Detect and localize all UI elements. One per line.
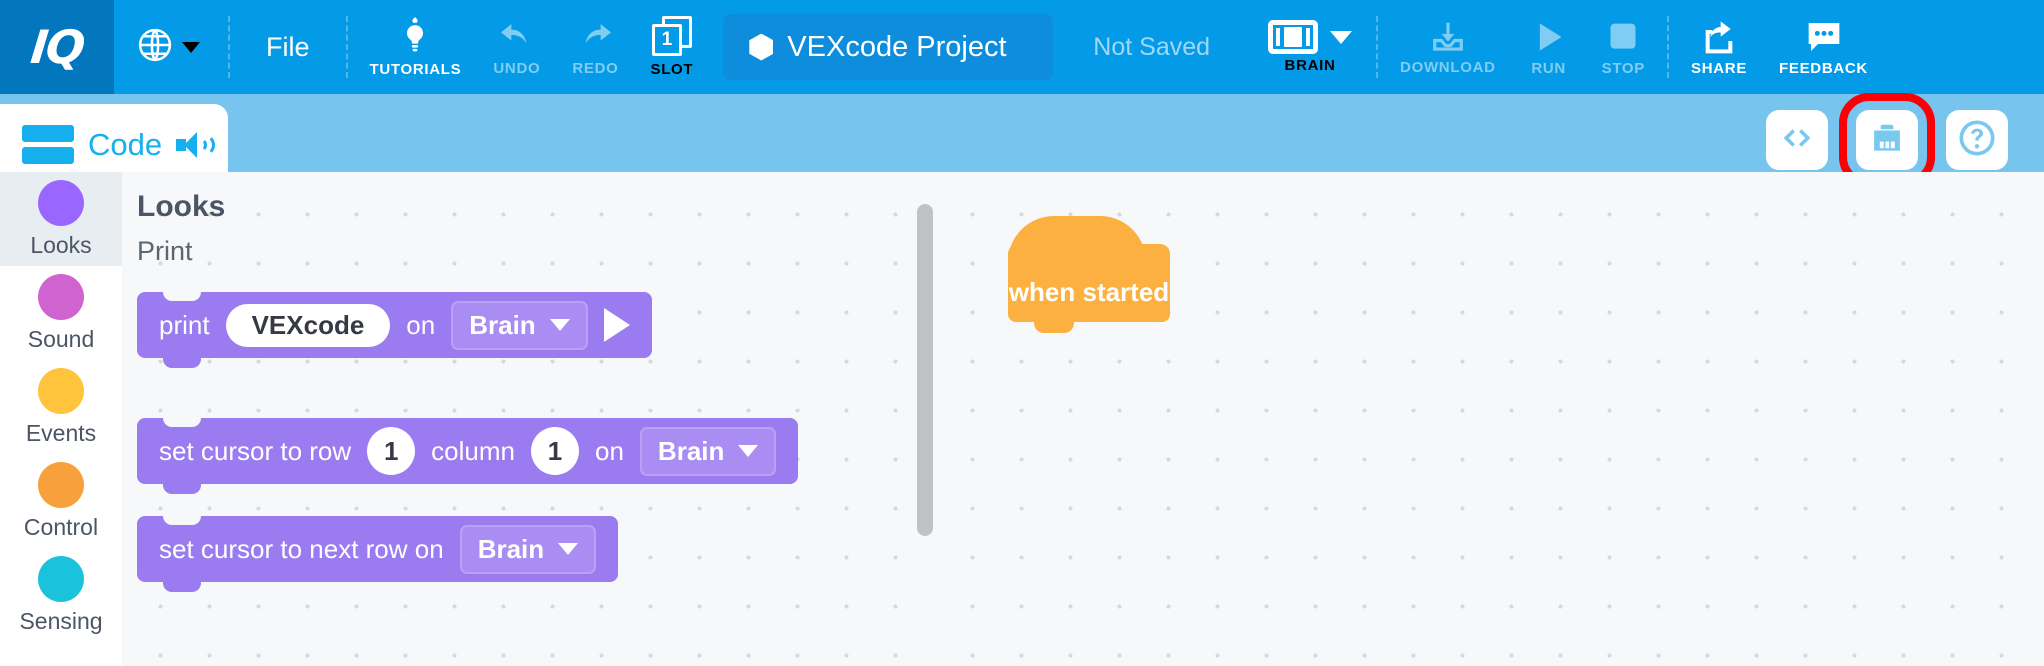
chevron-down-icon bbox=[738, 445, 758, 457]
dropdown-value: Brain bbox=[469, 310, 535, 341]
project-name-text: VEXcode Project bbox=[787, 31, 1006, 64]
brain-icon bbox=[1268, 20, 1318, 54]
download-icon bbox=[1427, 18, 1469, 56]
tutorials-label: TUTORIALS bbox=[370, 61, 462, 78]
save-status: Not Saved bbox=[1053, 33, 1250, 62]
help-button[interactable] bbox=[1946, 110, 2008, 170]
palette-block-print[interactable]: print VEXcode on Brain bbox=[137, 292, 652, 358]
category-color-dot bbox=[38, 462, 84, 508]
share-icon bbox=[1698, 17, 1740, 57]
category-color-dot bbox=[38, 274, 84, 320]
category-looks[interactable]: Looks bbox=[0, 172, 122, 266]
code-brackets-icon bbox=[1777, 122, 1817, 159]
redo-icon bbox=[573, 17, 617, 57]
slot-number: 1 bbox=[662, 29, 673, 51]
category-label: Sound bbox=[28, 326, 95, 353]
palette-subtitle: Print bbox=[137, 236, 225, 267]
brain-label: BRAIN bbox=[1285, 57, 1336, 74]
slot-button[interactable]: 1 SLOT bbox=[634, 0, 709, 94]
run-label: RUN bbox=[1531, 60, 1566, 77]
palette-scrollbar[interactable] bbox=[917, 204, 933, 536]
brain-selector[interactable]: BRAIN bbox=[1250, 0, 1370, 94]
category-label: Control bbox=[24, 514, 98, 541]
code-view-button[interactable] bbox=[1766, 110, 1828, 170]
device-dropdown[interactable]: Brain bbox=[451, 301, 587, 350]
divider bbox=[1376, 16, 1378, 78]
row-input[interactable]: 1 bbox=[367, 427, 415, 475]
palette-header: Looks Print bbox=[137, 190, 225, 267]
chevron-down-icon bbox=[550, 319, 570, 331]
run-button[interactable]: RUN bbox=[1512, 0, 1586, 94]
undo-icon bbox=[495, 17, 539, 57]
file-menu-label: File bbox=[266, 32, 310, 63]
slot-label: SLOT bbox=[650, 61, 693, 78]
divider bbox=[346, 16, 348, 78]
palette-block-set-cursor-next-row[interactable]: set cursor to next row on Brain bbox=[137, 516, 618, 582]
tab-code-label: Code bbox=[88, 127, 162, 163]
dropdown-value: Brain bbox=[478, 534, 544, 565]
workspace-block-when-started[interactable]: when started bbox=[1008, 244, 1170, 322]
chevron-down-icon bbox=[1330, 31, 1352, 44]
block-run-icon[interactable] bbox=[604, 308, 630, 342]
tutorials-button[interactable]: TUTORIALS bbox=[354, 0, 478, 94]
print-text-input[interactable]: VEXcode bbox=[226, 304, 391, 347]
category-sensing[interactable]: Sensing bbox=[0, 548, 122, 642]
speaker-icon bbox=[176, 132, 206, 158]
blocks-icon bbox=[22, 125, 74, 165]
dropdown-value: Brain bbox=[658, 436, 724, 467]
block-label: on bbox=[595, 436, 624, 467]
palette-block-set-cursor-row-column[interactable]: set cursor to row 1 column 1 on Brain bbox=[137, 418, 798, 484]
category-label: Events bbox=[26, 420, 96, 447]
redo-label: REDO bbox=[572, 60, 618, 77]
logo-text: IQ bbox=[28, 20, 86, 74]
project-name-field[interactable]: VEXcode Project bbox=[723, 14, 1053, 80]
workspace-canvas[interactable]: when started bbox=[938, 172, 2044, 666]
device-dropdown[interactable]: Brain bbox=[640, 427, 776, 476]
language-selector[interactable] bbox=[114, 0, 222, 94]
vex-iq-logo[interactable]: IQ bbox=[0, 0, 114, 94]
hat-block-top bbox=[1008, 216, 1146, 262]
file-menu[interactable]: File bbox=[236, 0, 340, 94]
download-button[interactable]: DOWNLOAD bbox=[1384, 0, 1512, 94]
chevron-down-icon bbox=[558, 543, 578, 555]
category-control[interactable]: Control bbox=[0, 454, 122, 548]
feedback-button[interactable]: FEEDBACK bbox=[1763, 0, 1884, 94]
block-label: print bbox=[159, 310, 210, 341]
divider bbox=[228, 16, 230, 78]
block-label: set cursor to row bbox=[159, 436, 351, 467]
block-label: on bbox=[406, 310, 435, 341]
undo-button[interactable]: UNDO bbox=[477, 0, 556, 94]
question-mark-icon bbox=[1957, 118, 1997, 163]
feedback-label: FEEDBACK bbox=[1779, 60, 1868, 77]
play-icon bbox=[1528, 17, 1570, 57]
category-sound[interactable]: Sound bbox=[0, 266, 122, 360]
devices-button[interactable] bbox=[1856, 110, 1918, 170]
device-dropdown[interactable]: Brain bbox=[460, 525, 596, 574]
category-events[interactable]: Events bbox=[0, 360, 122, 454]
block-label: set cursor to next row on bbox=[159, 534, 444, 565]
block-label: when started bbox=[1009, 277, 1169, 308]
lightbulb-icon bbox=[394, 16, 436, 58]
column-input[interactable]: 1 bbox=[531, 427, 579, 475]
share-label: SHARE bbox=[1691, 60, 1747, 77]
redo-button[interactable]: REDO bbox=[556, 0, 634, 94]
save-status-text: Not Saved bbox=[1093, 33, 1210, 62]
share-button[interactable]: SHARE bbox=[1675, 0, 1763, 94]
toolbox-icon bbox=[1868, 120, 1906, 161]
block-label: column bbox=[431, 436, 515, 467]
category-color-dot bbox=[38, 556, 84, 602]
stop-label: STOP bbox=[1602, 60, 1645, 77]
chevron-down-icon bbox=[182, 42, 200, 53]
stop-button[interactable]: STOP bbox=[1586, 0, 1661, 94]
category-label: Sensing bbox=[19, 608, 102, 635]
tab-tool-buttons bbox=[1766, 110, 2008, 170]
divider bbox=[1667, 16, 1669, 78]
tab-bar: Code bbox=[0, 94, 2044, 172]
category-rail: Looks Sound Events Control Sensing bbox=[0, 172, 122, 666]
chat-bubble-icon bbox=[1802, 17, 1846, 57]
main-area: Looks Sound Events Control Sensing Looks… bbox=[0, 172, 2044, 666]
category-color-dot bbox=[38, 180, 84, 226]
stop-square-icon bbox=[1602, 17, 1644, 57]
palette-title: Looks bbox=[137, 190, 225, 224]
top-toolbar: IQ File TUTORIALS bbox=[0, 0, 2044, 94]
undo-label: UNDO bbox=[493, 60, 540, 77]
category-color-dot bbox=[38, 368, 84, 414]
download-label: DOWNLOAD bbox=[1400, 59, 1496, 76]
hexagon-icon bbox=[749, 34, 773, 61]
globe-icon bbox=[136, 26, 174, 69]
slot-icon: 1 bbox=[652, 16, 692, 58]
category-label: Looks bbox=[30, 232, 91, 259]
